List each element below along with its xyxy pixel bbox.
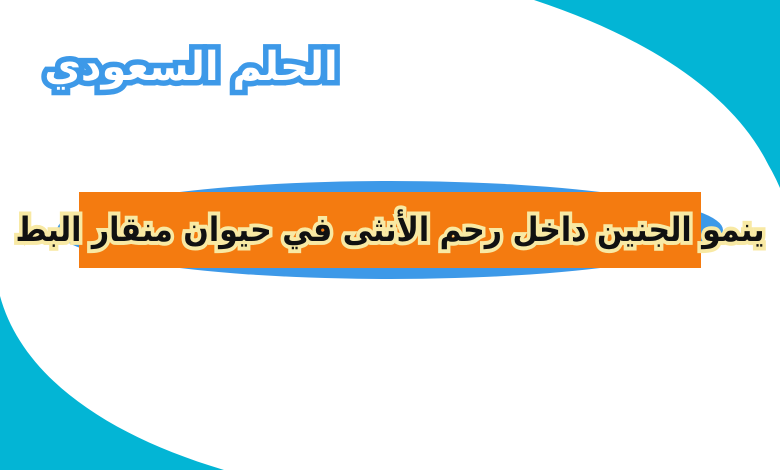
bottom-left-white-arc-inner: [18, 294, 244, 456]
top-right-teal-swoosh: [534, 0, 780, 196]
bottom-left-white-arc: [0, 284, 262, 470]
banner-text-container: ينمو الجنين داخل رحم الأنثى في حيوان منق…: [79, 192, 701, 268]
banner-title-text: ينمو الجنين داخل رحم الأنثى في حيوان منق…: [15, 212, 764, 249]
top-right-white-arc-gap: [512, 2, 780, 204]
site-logo-text: الحلم السعودي: [44, 47, 337, 87]
banner-canvas: الحلم السعودي ينمو الجنين داخل رحم الأنث…: [0, 0, 780, 470]
bottom-left-teal-swoosh: [0, 296, 224, 470]
title-banner: ينمو الجنين داخل رحم الأنثى في حيوان منق…: [57, 181, 723, 279]
site-logo[interactable]: الحلم السعودي: [46, 28, 336, 106]
top-right-white-arc: [508, 8, 766, 172]
